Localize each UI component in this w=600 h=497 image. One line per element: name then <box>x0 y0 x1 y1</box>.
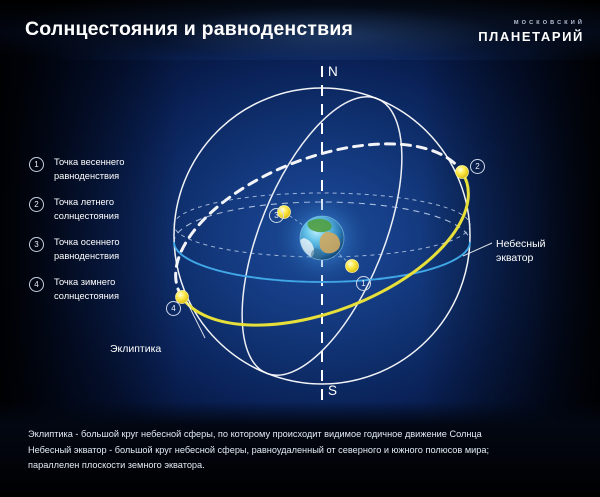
legend-number-2: 2 <box>29 197 44 212</box>
legend-number-3: 3 <box>29 237 44 252</box>
legend-item-2: 2 Точка летнего солнцестояния <box>29 196 179 223</box>
marker-badge-2[interactable]: 2 <box>470 159 485 174</box>
legend-label-2: Точка летнего солнцестояния <box>54 196 119 223</box>
diagram-page: Солнцестояния и равноденствия МОСКОВСКИЙ… <box>0 0 600 497</box>
ecliptic-label: Эклиптика <box>110 342 161 356</box>
marker-badge-3[interactable]: 3 <box>269 208 284 223</box>
south-pole-label: S <box>328 383 337 398</box>
legend-label-1: Точка весеннего равноденствия <box>54 156 124 183</box>
celestial-equator-label: Небесный экватор <box>496 237 546 265</box>
legend-number-1: 1 <box>29 157 44 172</box>
legend-item-3: 3 Точка осеннего равноденствия <box>29 236 179 263</box>
legend-item-1: 1 Точка весеннего равноденствия <box>29 156 179 183</box>
marker-badge-1[interactable]: 1 <box>356 276 371 291</box>
caption-text: Эклиптика - большой круг небесной сферы,… <box>28 427 580 474</box>
marker-point-1[interactable] <box>346 260 359 273</box>
legend-label-4: Точка зимнего солнцестояния <box>54 276 119 303</box>
legend-item-4: 4 Точка зимнего солнцестояния <box>29 276 179 303</box>
legend-label-3: Точка осеннего равноденствия <box>54 236 120 263</box>
legend: 1 Точка весеннего равноденствия 2 Точка … <box>29 156 179 316</box>
north-pole-label: N <box>328 64 338 79</box>
legend-number-4: 4 <box>29 277 44 292</box>
leader-line-ecliptic <box>186 300 205 338</box>
marker-point-2[interactable] <box>456 166 469 179</box>
